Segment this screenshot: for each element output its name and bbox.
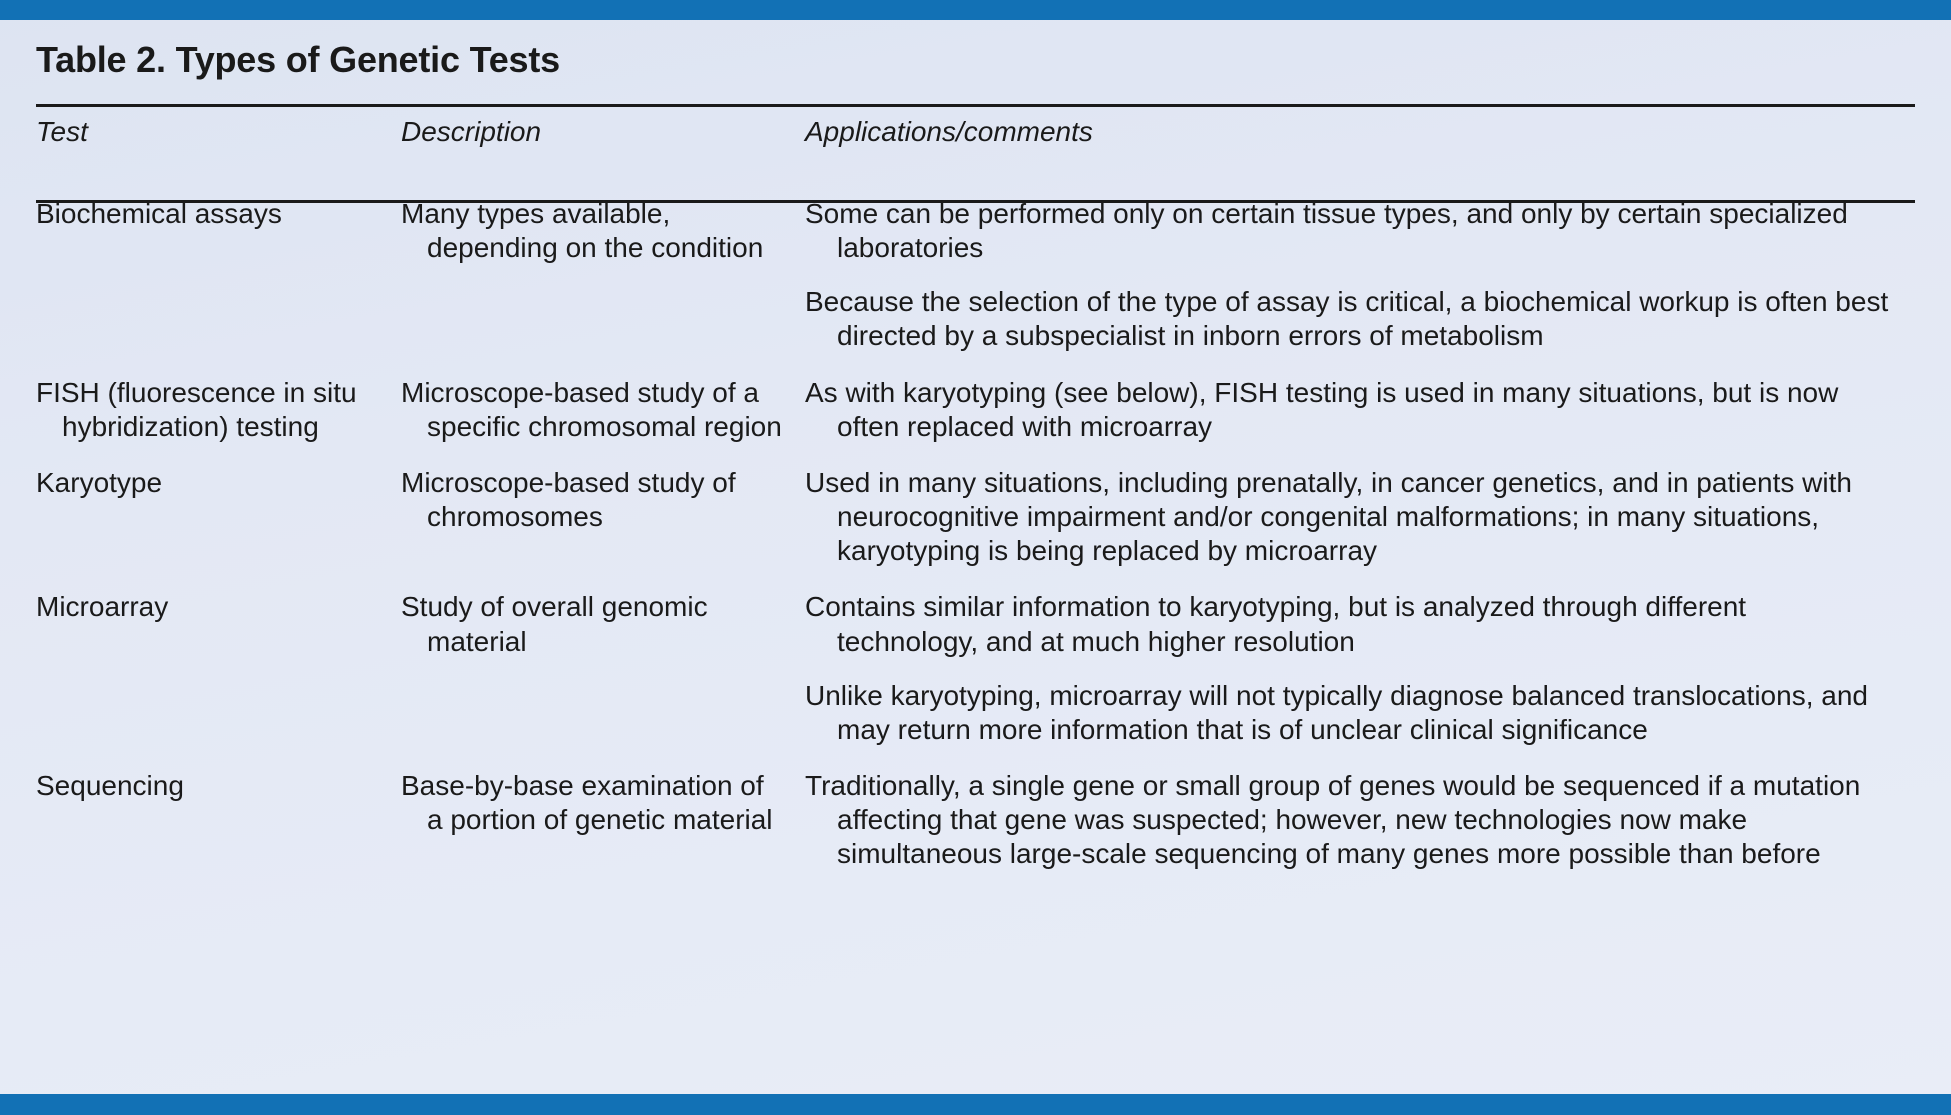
cell-text: Study of overall genomic material <box>401 590 783 658</box>
bottom-accent-bar <box>0 1094 1951 1115</box>
cell-description: Microscope-based study of a specific chr… <box>401 357 805 447</box>
cell-text: Used in many situations, including prena… <box>805 466 1893 568</box>
cell-description: Study of overall genomic material <box>401 571 805 750</box>
cell-text: Because the selection of the type of ass… <box>805 285 1893 353</box>
cell-description: Base-by-base examination of a portion of… <box>401 750 805 874</box>
cell-test: Sequencing <box>36 750 401 874</box>
cell-text: Karyotype <box>36 466 379 500</box>
table-row: SequencingBase-by-base examination of a … <box>36 750 1915 874</box>
cell-applications: As with karyotyping (see below), FISH te… <box>805 357 1915 447</box>
genetic-tests-table: Test Description Applications/comments B… <box>36 116 1915 875</box>
cell-text: FISH (fluorescence in situ hybridization… <box>36 376 379 444</box>
cell-text: Base-by-base examination of a portion of… <box>401 769 783 837</box>
cell-applications: Used in many situations, including prena… <box>805 447 1915 571</box>
table-row: FISH (fluorescence in situ hybridization… <box>36 357 1915 447</box>
table-row: KaryotypeMicroscope-based study of chrom… <box>36 447 1915 571</box>
cell-text: Sequencing <box>36 769 379 803</box>
cell-test: FISH (fluorescence in situ hybridization… <box>36 357 401 447</box>
column-header-test: Test <box>36 116 401 178</box>
cell-test: Biochemical assays <box>36 178 401 357</box>
column-header-applications: Applications/comments <box>805 116 1915 178</box>
cell-text: As with karyotyping (see below), FISH te… <box>805 376 1893 444</box>
cell-text: Many types available, depending on the c… <box>401 197 783 265</box>
table-body: Biochemical assaysMany types available, … <box>36 178 1915 875</box>
cell-applications: Some can be performed only on certain ti… <box>805 178 1915 357</box>
cell-text: Unlike karyotyping, microarray will not … <box>805 679 1893 747</box>
column-header-description: Description <box>401 116 805 178</box>
cell-text: Traditionally, a single gene or small gr… <box>805 769 1893 871</box>
table-row: MicroarrayStudy of overall genomic mater… <box>36 571 1915 750</box>
table-page: Table 2. Types of Genetic Tests Test Des… <box>0 0 1951 1115</box>
cell-text: Some can be performed only on certain ti… <box>805 197 1893 265</box>
top-accent-bar <box>0 0 1951 20</box>
table-row: Biochemical assaysMany types available, … <box>36 178 1915 357</box>
cell-test: Karyotype <box>36 447 401 571</box>
cell-applications: Contains similar information to karyotyp… <box>805 571 1915 750</box>
cell-text: Biochemical assays <box>36 197 379 231</box>
cell-text: Microscope-based study of chromosomes <box>401 466 783 534</box>
cell-test: Microarray <box>36 571 401 750</box>
title-divider <box>36 104 1915 107</box>
cell-applications: Traditionally, a single gene or small gr… <box>805 750 1915 874</box>
cell-text: Contains similar information to karyotyp… <box>805 590 1893 658</box>
cell-description: Many types available, depending on the c… <box>401 178 805 357</box>
cell-text: Microscope-based study of a specific chr… <box>401 376 783 444</box>
table-header-row: Test Description Applications/comments <box>36 116 1915 178</box>
cell-description: Microscope-based study of chromosomes <box>401 447 805 571</box>
cell-text: Microarray <box>36 590 379 624</box>
page-title: Table 2. Types of Genetic Tests <box>36 39 560 81</box>
table-header: Test Description Applications/comments <box>36 116 1915 178</box>
table-content: Table 2. Types of Genetic Tests Test Des… <box>0 20 1951 1094</box>
